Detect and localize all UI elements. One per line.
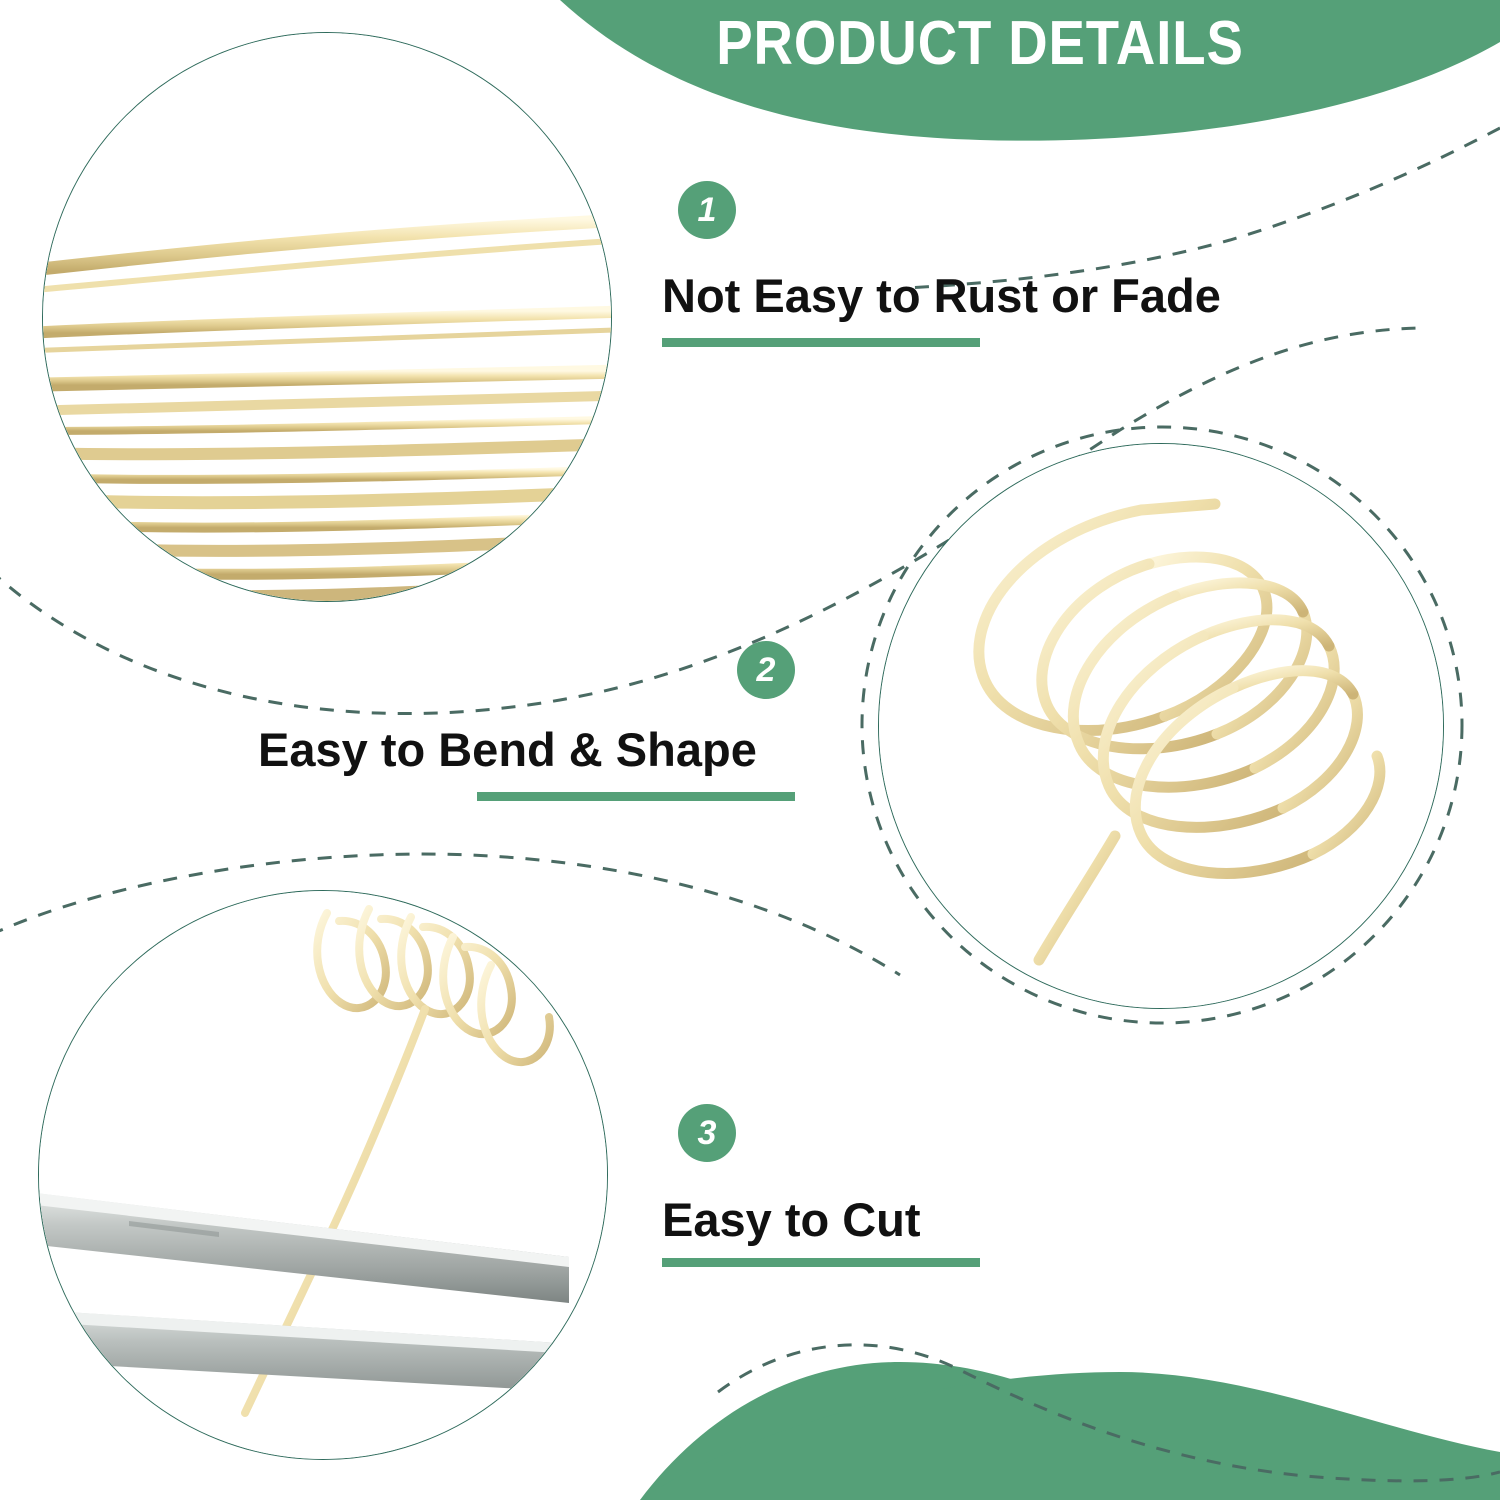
feature-badge-3: 3: [678, 1104, 736, 1162]
feature-title-3: Easy to Cut: [662, 1192, 921, 1247]
feature-rule-3: [662, 1258, 980, 1267]
product-details-infographic: PRODUCT DETAILS 1 Not Easy to Rust or Fa…: [0, 0, 1500, 1500]
feature-block-3: 3 Easy to Cut: [0, 0, 1500, 1500]
